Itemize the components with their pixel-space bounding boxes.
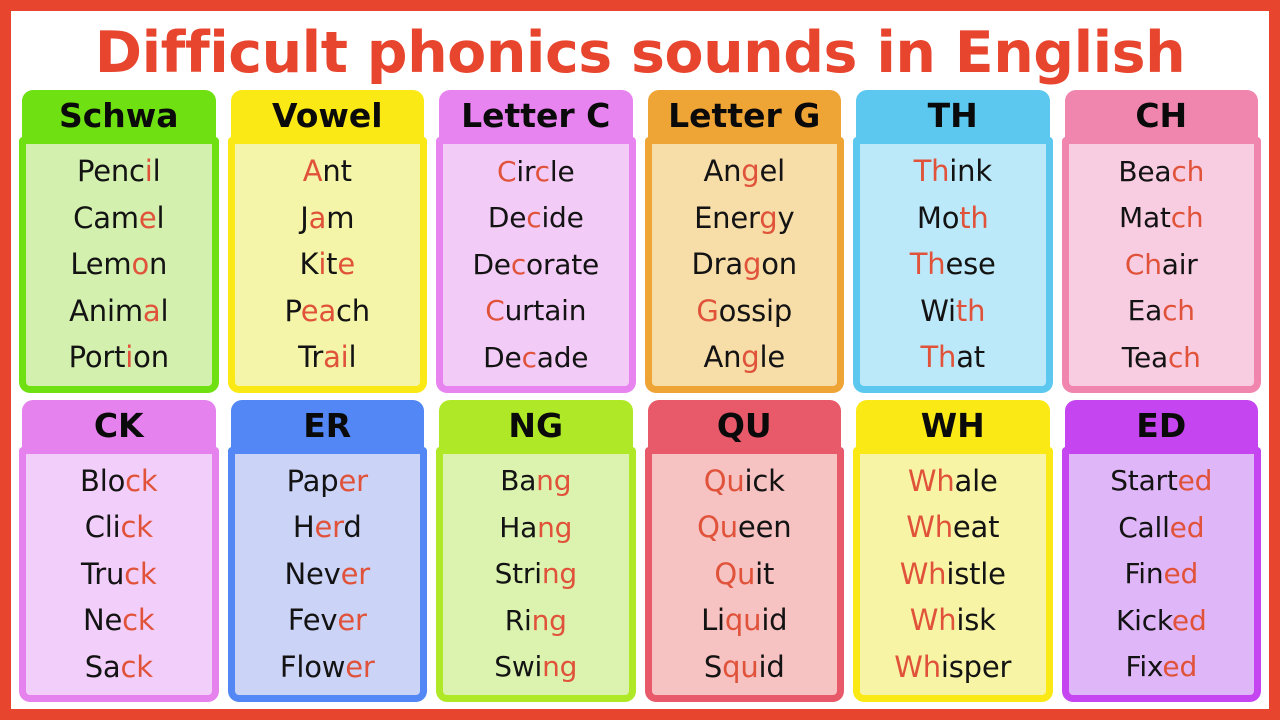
plain-letters: m	[326, 201, 354, 235]
highlighted-letters: ed	[1172, 604, 1207, 637]
card-word-list-ck: BlockClickTruckNeckSack	[19, 447, 219, 703]
plain-letters: ide	[541, 201, 583, 234]
plain-letters: Blo	[80, 464, 125, 498]
word-item: Wheat	[906, 512, 999, 542]
phonics-card-vowel[interactable]: VowelAntJamKitePeachTrail	[228, 90, 428, 393]
highlighted-letters: er	[341, 557, 370, 591]
word-item: Decide	[488, 203, 584, 232]
word-item: Jam	[300, 203, 354, 233]
highlighted-letters: Wh	[894, 650, 941, 684]
highlighted-letters: c	[511, 248, 526, 281]
word-item: Match	[1119, 203, 1203, 232]
highlighted-letters: a	[309, 201, 327, 235]
highlighted-letters: th	[956, 294, 985, 328]
word-item: Queen	[697, 512, 791, 542]
plain-letters: Sa	[85, 650, 121, 684]
plain-letters: le	[760, 340, 786, 374]
card-header-ck: CK	[22, 400, 216, 450]
plain-letters: isper	[941, 650, 1011, 684]
plain-letters: Cli	[85, 510, 121, 544]
word-item: Angel	[703, 156, 785, 186]
word-item: With	[920, 296, 985, 326]
highlighted-letters: Th	[921, 340, 957, 374]
highlighted-letters: ed	[1163, 557, 1198, 590]
word-item: Fined	[1124, 559, 1198, 588]
plain-letters: An	[703, 340, 741, 374]
plain-letters: Lem	[70, 247, 131, 281]
word-item: Kite	[299, 249, 355, 279]
plain-letters: el	[760, 154, 786, 188]
highlighted-letters: ai	[323, 340, 348, 374]
card-word-list-schwa: PencilCamelLemonAnimalPortion	[19, 137, 219, 393]
word-item: String	[495, 559, 577, 588]
highlighted-letters: Th	[914, 154, 950, 188]
phonics-card-wh[interactable]: WHWhaleWheatWhistleWhiskWhisper	[853, 400, 1053, 703]
highlighted-letters: ch	[1171, 155, 1204, 188]
word-item: Each	[1128, 296, 1195, 325]
highlighted-letters: Wh	[900, 557, 947, 591]
card-word-list-ng: BangHangStringRingSwing	[436, 447, 636, 703]
highlighted-letters: ng	[542, 650, 577, 683]
plain-letters: Mat	[1119, 201, 1171, 234]
word-item: Liquid	[701, 605, 787, 635]
plain-letters: eat	[953, 510, 999, 544]
highlighted-letters: e	[337, 247, 355, 281]
plain-letters: y	[777, 201, 794, 235]
plain-letters: J	[300, 201, 308, 235]
plain-letters: at	[956, 340, 985, 374]
highlighted-letters: Th	[910, 247, 946, 281]
word-item: Lemon	[70, 249, 167, 279]
word-item: Block	[80, 466, 157, 496]
highlighted-letters: g	[743, 247, 761, 281]
word-item: Curtain	[485, 296, 586, 325]
word-item: Beach	[1118, 157, 1204, 186]
word-item: Called	[1118, 513, 1204, 542]
plain-letters: Bea	[1118, 155, 1171, 188]
plain-letters: H	[293, 510, 315, 544]
highlighted-letters: ck	[120, 510, 152, 544]
highlighted-letters: ck	[125, 464, 157, 498]
phonics-card-letter-c[interactable]: Letter CCircleDecideDecorateCurtainDecad…	[436, 90, 636, 393]
word-item: Swing	[494, 652, 577, 681]
plain-letters: l	[153, 154, 161, 188]
plain-letters: l	[349, 340, 357, 374]
plain-letters: nt	[322, 154, 351, 188]
card-word-list-er: PaperHerdNeverFeverFlower	[228, 447, 428, 703]
phonics-card-letter-g[interactable]: Letter GAngelEnergyDragonGossipAngle	[645, 90, 845, 393]
plain-letters: t	[326, 247, 337, 281]
highlighted-letters: i	[145, 154, 153, 188]
page-title: Difficult phonics sounds in English	[11, 11, 1269, 90]
phonics-poster: Difficult phonics sounds in English Schw…	[0, 0, 1280, 720]
word-item: Bang	[500, 466, 571, 495]
phonics-card-ed[interactable]: EDStartedCalledFinedKickedFixed	[1062, 400, 1262, 703]
word-item: Click	[85, 512, 153, 542]
card-header-wh: WH	[856, 400, 1050, 450]
highlighted-letters: Wh	[908, 464, 955, 498]
card-header-schwa: Schwa	[22, 90, 216, 140]
word-item: Trail	[298, 342, 356, 372]
highlighted-letters: ed	[1170, 511, 1205, 544]
plain-letters: K	[299, 247, 318, 281]
plain-letters: Fin	[1124, 557, 1163, 590]
highlighted-letters: er	[338, 464, 367, 498]
plain-letters: l	[156, 201, 164, 235]
plain-letters: Stri	[495, 557, 542, 590]
phonics-card-schwa[interactable]: SchwaPencilCamelLemonAnimalPortion	[19, 90, 219, 393]
word-item: Teach	[1122, 343, 1201, 372]
word-item: Squid	[704, 652, 785, 682]
highlighted-letters: G	[696, 294, 718, 328]
plain-letters: Tr	[298, 340, 323, 374]
highlighted-letters: c	[535, 155, 550, 188]
phonics-card-th[interactable]: THThinkMothTheseWithThat	[853, 90, 1053, 393]
card-word-list-vowel: AntJamKitePeachTrail	[228, 137, 428, 393]
highlighted-letters: g	[741, 340, 759, 374]
card-header-th: TH	[856, 90, 1050, 140]
card-word-list-letter-g: AngelEnergyDragonGossipAngle	[645, 137, 845, 393]
word-item: Moth	[917, 203, 989, 233]
plain-letters: Fev	[288, 603, 338, 637]
highlighted-letters: ch	[1162, 294, 1195, 327]
highlighted-letters: ng	[532, 604, 567, 637]
plain-letters: An	[703, 154, 741, 188]
word-item: These	[910, 249, 996, 279]
word-item: Angle	[703, 342, 785, 372]
plain-letters: Ener	[694, 201, 759, 235]
word-item: Neck	[83, 605, 154, 635]
card-word-list-th: ThinkMothTheseWithThat	[853, 137, 1053, 393]
plain-letters: Ri	[505, 604, 532, 637]
highlighted-letters: ed	[1162, 650, 1197, 683]
highlighted-letters: ed	[1178, 464, 1213, 497]
word-item: Fever	[288, 605, 367, 635]
plain-letters: Ba	[500, 464, 536, 497]
highlighted-letters: i	[318, 247, 326, 281]
word-item: Animal	[69, 296, 168, 326]
highlighted-letters: C	[485, 294, 504, 327]
plain-letters: Call	[1118, 511, 1169, 544]
plain-letters: ch	[336, 294, 370, 328]
plain-letters: Pap	[287, 464, 339, 498]
plain-letters: orate	[526, 248, 599, 281]
plain-letters: ick	[745, 464, 785, 498]
plain-letters: Wi	[920, 294, 956, 328]
word-item: Think	[914, 156, 992, 186]
plain-letters: ink	[949, 154, 992, 188]
card-word-list-letter-c: CircleDecideDecorateCurtainDecade	[436, 137, 636, 393]
plain-letters: Anim	[69, 294, 143, 328]
card-word-list-ed: StartedCalledFinedKickedFixed	[1062, 447, 1262, 703]
plain-letters: De	[483, 341, 521, 374]
card-word-list-qu: QuickQueenQuitLiquidSquid	[645, 447, 845, 703]
highlighted-letters: g	[759, 201, 777, 235]
highlighted-letters: Ch	[1125, 248, 1162, 281]
phonics-card-qu[interactable]: QUQuickQueenQuitLiquidSquid	[645, 400, 845, 703]
plain-letters: d	[343, 510, 361, 544]
highlighted-letters: ng	[536, 464, 571, 497]
highlighted-letters: qu	[722, 650, 758, 684]
highlighted-letters: ck	[120, 650, 152, 684]
highlighted-letters: Qu	[704, 464, 745, 498]
plain-letters: it	[755, 557, 774, 591]
word-item: Kicked	[1116, 606, 1207, 635]
plain-letters: l	[160, 294, 168, 328]
plain-letters: air	[1162, 248, 1198, 281]
plain-letters: Kick	[1116, 604, 1172, 637]
plain-letters: istle	[946, 557, 1005, 591]
word-item: Whistle	[900, 559, 1006, 589]
card-header-vowel: Vowel	[231, 90, 425, 140]
highlighted-letters: a	[143, 294, 161, 328]
plain-letters: S	[704, 650, 722, 684]
word-item: Decorate	[472, 250, 599, 279]
card-word-list-wh: WhaleWheatWhistleWhiskWhisper	[853, 447, 1053, 703]
word-item: Portion	[69, 342, 169, 372]
card-header-qu: QU	[648, 400, 842, 450]
word-item: Energy	[694, 203, 794, 233]
highlighted-letters: er	[345, 650, 374, 684]
highlighted-letters: ng	[537, 511, 572, 544]
plain-letters: ale	[955, 464, 998, 498]
word-item: Whisper	[894, 652, 1011, 682]
plain-letters: le	[550, 155, 575, 188]
highlighted-letters: C	[497, 155, 516, 188]
plain-letters: De	[488, 201, 526, 234]
highlighted-letters: ng	[542, 557, 577, 590]
word-item: Quick	[704, 466, 785, 496]
plain-letters: on	[761, 247, 797, 281]
plain-letters: Flow	[280, 650, 345, 684]
plain-letters: Nev	[285, 557, 341, 591]
word-item: That	[921, 342, 985, 372]
word-item: Dragon	[692, 249, 797, 279]
plain-letters: Fix	[1125, 650, 1162, 683]
card-header-ng: NG	[439, 400, 633, 450]
highlighted-letters: A	[303, 154, 323, 188]
card-word-list-ch: BeachMatchChairEachTeach	[1062, 137, 1262, 393]
card-header-er: ER	[231, 400, 425, 450]
plain-letters: Start	[1110, 464, 1177, 497]
highlighted-letters: er	[315, 510, 344, 544]
highlighted-letters: ch	[1171, 201, 1204, 234]
word-item: Whisk	[910, 605, 996, 635]
word-item: Whale	[908, 466, 998, 496]
plain-letters: een	[738, 510, 791, 544]
word-item: Truck	[81, 559, 157, 589]
phonics-card-er[interactable]: ERPaperHerdNeverFeverFlower	[228, 400, 428, 703]
word-item: Flower	[280, 652, 375, 682]
highlighted-letters: qu	[725, 603, 761, 637]
plain-letters: Penc	[77, 154, 145, 188]
highlighted-letters: c	[522, 341, 537, 374]
highlighted-letters: g	[741, 154, 759, 188]
card-header-ch: CH	[1065, 90, 1259, 140]
highlighted-letters: Qu	[697, 510, 738, 544]
highlighted-letters: ck	[122, 603, 154, 637]
plain-letters: id	[761, 603, 787, 637]
plain-letters: on	[133, 340, 169, 374]
card-header-ed: ED	[1065, 400, 1259, 450]
plain-letters: P	[285, 294, 301, 328]
word-item: Quit	[714, 559, 774, 589]
phonics-card-ng[interactable]: NGBangHangStringRingSwing	[436, 400, 636, 703]
plain-letters: isk	[956, 603, 995, 637]
highlighted-letters: Qu	[714, 557, 755, 591]
plain-letters: Dra	[692, 247, 743, 281]
word-item: Circle	[497, 157, 574, 186]
highlighted-letters: er	[337, 603, 366, 637]
plain-letters: urtain	[505, 294, 587, 327]
word-item: Hang	[499, 513, 572, 542]
plain-letters: Ha	[499, 511, 537, 544]
word-item: Peach	[285, 296, 370, 326]
plain-letters: id	[759, 650, 785, 684]
plain-letters: n	[149, 247, 167, 281]
word-item: Gossip	[696, 296, 792, 326]
phonics-card-ck[interactable]: CKBlockClickTruckNeckSack	[19, 400, 219, 703]
word-item: Started	[1110, 466, 1212, 495]
phonics-card-ch[interactable]: CHBeachMatchChairEachTeach	[1062, 90, 1262, 393]
highlighted-letters: e	[139, 201, 157, 235]
word-item: Sack	[85, 652, 153, 682]
plain-letters: Tru	[81, 557, 124, 591]
word-item: Ring	[505, 606, 567, 635]
plain-letters: Port	[69, 340, 126, 374]
plain-letters: ossip	[719, 294, 792, 328]
word-item: Pencil	[77, 156, 161, 186]
word-item: Fixed	[1125, 652, 1197, 681]
plain-letters: Swi	[494, 650, 542, 683]
highlighted-letters: ck	[124, 557, 156, 591]
plain-letters: Tea	[1122, 341, 1168, 374]
word-item: Ant	[303, 156, 352, 186]
plain-letters: Li	[701, 603, 725, 637]
highlighted-letters: o	[131, 247, 149, 281]
word-item: Chair	[1125, 250, 1198, 279]
highlighted-letters: Wh	[910, 603, 957, 637]
word-item: Camel	[73, 203, 164, 233]
plain-letters: De	[472, 248, 510, 281]
plain-letters: ade	[537, 341, 589, 374]
word-item: Paper	[287, 466, 368, 496]
highlighted-letters: ch	[1168, 341, 1201, 374]
plain-letters: Ea	[1128, 294, 1162, 327]
word-item: Herd	[293, 512, 362, 542]
highlighted-letters: i	[125, 340, 133, 374]
highlighted-letters: ea	[301, 294, 336, 328]
card-header-letter-g: Letter G	[648, 90, 842, 140]
highlighted-letters: c	[526, 201, 541, 234]
highlighted-letters: th	[959, 201, 988, 235]
card-header-letter-c: Letter C	[439, 90, 633, 140]
plain-letters: Cam	[73, 201, 139, 235]
plain-letters: Ne	[83, 603, 122, 637]
phonics-card-grid: SchwaPencilCamelLemonAnimalPortionVowelA…	[11, 90, 1269, 709]
plain-letters: ese	[946, 247, 996, 281]
word-item: Decade	[483, 343, 588, 372]
plain-letters: ir	[516, 155, 534, 188]
word-item: Never	[285, 559, 370, 589]
highlighted-letters: Wh	[906, 510, 953, 544]
plain-letters: Mo	[917, 201, 959, 235]
